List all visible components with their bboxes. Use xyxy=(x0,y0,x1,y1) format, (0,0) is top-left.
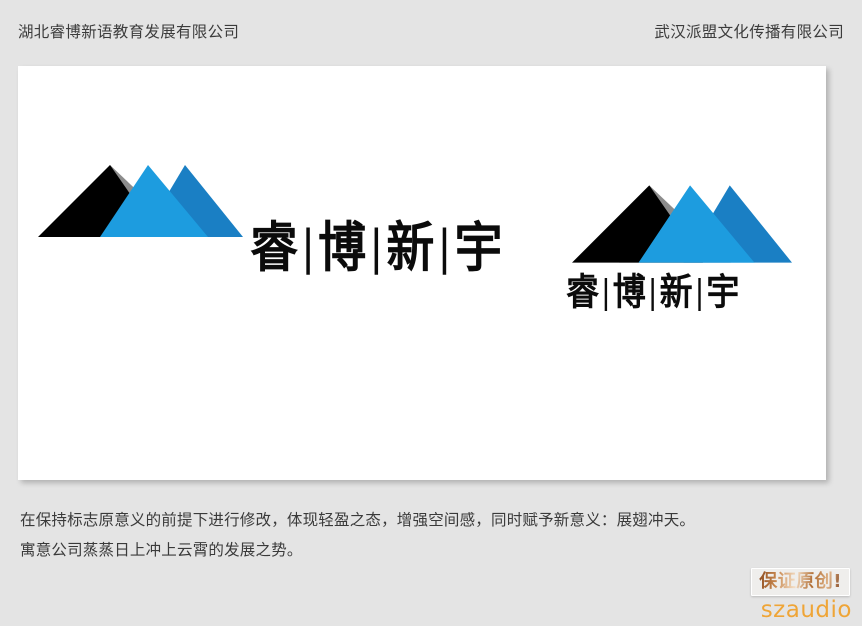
description-line-2: 寓意公司蒸蒸日上冲上云霄的发展之势。 xyxy=(20,538,844,562)
badge-label: 保证原创! xyxy=(759,571,842,592)
wordmark-separator-2: | xyxy=(647,273,660,311)
description-line-1: 在保持标志原意义的前提下进行修改，体现轻盈之态，增强空间感，同时赋予新意义：展翅… xyxy=(20,508,844,532)
wordmark-char-1: 睿 xyxy=(250,217,299,280)
header-left-company: 湖北睿博新语教育发展有限公司 xyxy=(18,25,239,41)
wordmark-separator-3: | xyxy=(435,220,454,275)
wordmark-char-4: 宇 xyxy=(455,217,504,280)
watermark-group: 保证原创! szaudio xyxy=(730,562,858,624)
header-bar: 湖北睿博新语教育发展有限公司 武汉派盟文化传播有限公司 xyxy=(0,0,862,66)
wordmark-separator-1: | xyxy=(600,273,613,311)
wordmark-char-3: 新 xyxy=(386,217,435,280)
logo-stacked-lockup: 睿|博|新|宇 xyxy=(560,125,790,320)
design-rationale-text: 在保持标志原意义的前提下进行修改，体现轻盈之态，增强空间感，同时赋予新意义：展翅… xyxy=(20,508,844,568)
wordmark-char-2: 博 xyxy=(318,217,367,280)
wordmark-separator-1: | xyxy=(299,220,318,275)
watermark-brand: szaudio xyxy=(761,599,852,622)
wordmark-char-3: 新 xyxy=(660,270,694,314)
wordmark-stacked: 睿|博|新|宇 xyxy=(566,273,740,310)
wordmark-char-2: 博 xyxy=(613,270,647,314)
mountain-mark-stacked xyxy=(572,185,792,263)
wordmark-horizontal: 睿|博|新|宇 xyxy=(250,221,504,275)
wordmark-separator-2: | xyxy=(367,220,386,275)
wordmark-separator-3: | xyxy=(694,273,707,311)
original-guarantee-badge: 保证原创! xyxy=(751,568,850,596)
logo-horizontal-lockup: 睿|博|新|宇 xyxy=(38,125,513,225)
header-right-company: 武汉派盟文化传播有限公司 xyxy=(654,25,844,41)
mountain-mark-horizontal xyxy=(38,165,243,237)
wordmark-char-1: 睿 xyxy=(566,270,600,314)
wordmark-char-4: 宇 xyxy=(706,270,740,314)
